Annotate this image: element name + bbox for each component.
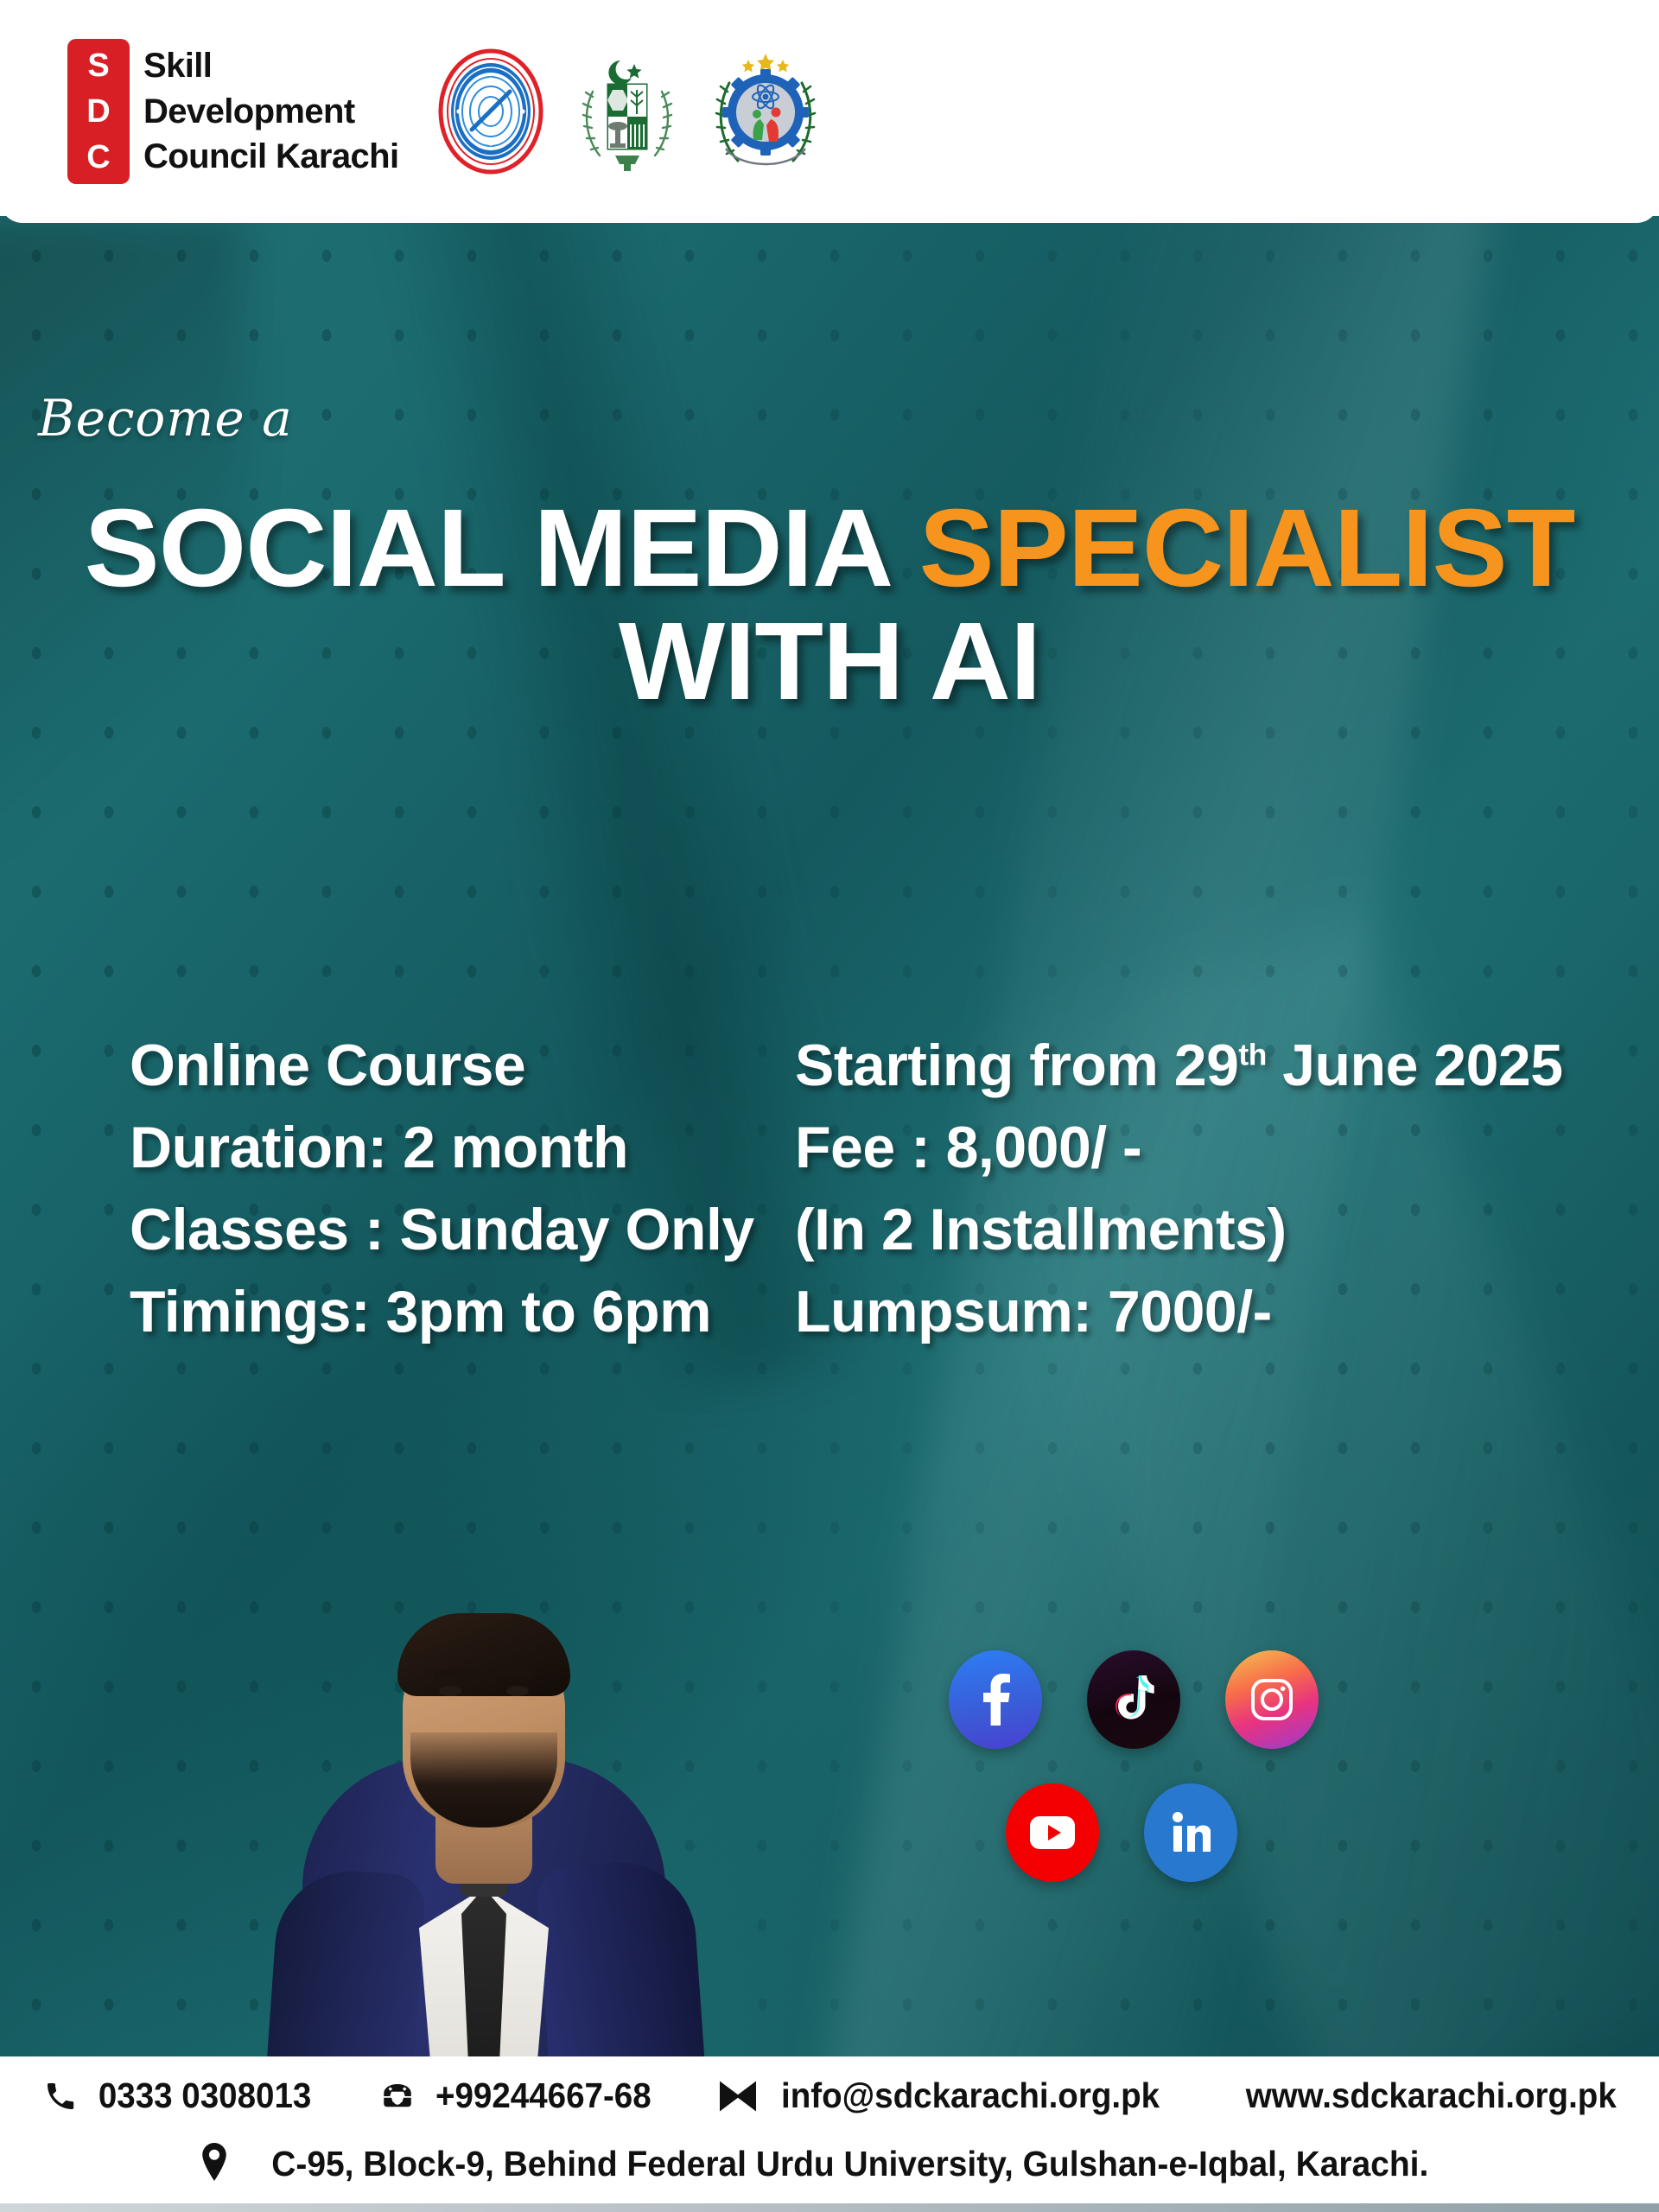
- social-links: [949, 1650, 1363, 1882]
- instagram-icon[interactable]: [1225, 1650, 1319, 1749]
- detail-fee: Fee : 8,000/ -: [795, 1110, 1564, 1185]
- contact-website[interactable]: www.sdckarachi.org.pk: [1234, 2075, 1628, 2116]
- envelope-icon: [719, 2077, 757, 2115]
- detail-online-course: Online Course: [130, 1028, 795, 1103]
- headline-line-1: SOCIAL MEDIA SPECIALIST: [0, 493, 1659, 606]
- facebook-icon[interactable]: [949, 1650, 1042, 1749]
- skills-developing-centre-crest-icon: [703, 47, 829, 176]
- detail-duration: Duration: 2 month: [130, 1110, 795, 1185]
- location-pin-icon: [200, 2143, 229, 2185]
- headline-orange-part: SPECIALIST: [919, 486, 1575, 610]
- eyebrow-text: Become a: [38, 389, 293, 448]
- detail-start-date: Starting from 29th June 2025: [795, 1028, 1564, 1103]
- sdc-letter-c: C: [86, 141, 110, 174]
- brand-header: S D C Skill Development Council Karachi: [0, 0, 1659, 223]
- course-details: Online Course Starting from 29th June 20…: [130, 1028, 1564, 1350]
- government-of-pakistan-crest-icon: [567, 47, 688, 176]
- start-date-prefix: Starting from 29: [795, 1033, 1238, 1098]
- linkedin-icon[interactable]: [1144, 1783, 1237, 1882]
- instagram-glyph: [1249, 1677, 1294, 1722]
- poster-body: Become a SOCIAL MEDIA SPECIALIST WITH AI…: [0, 216, 1659, 2056]
- tiktok-icon[interactable]: [1087, 1650, 1180, 1749]
- sdc-word-council-karachi: Council Karachi: [143, 134, 399, 180]
- instructor-photo: [259, 1473, 709, 2056]
- contact-email[interactable]: info@sdckarachi.org.pk: [719, 2075, 1172, 2116]
- linkedin-glyph: [1171, 1812, 1211, 1853]
- telephone-icon: [378, 2077, 416, 2115]
- sdc-initials-bar: S D C: [67, 39, 130, 184]
- start-date-ordinal: th: [1238, 1038, 1266, 1071]
- email-address: info@sdckarachi.org.pk: [781, 2075, 1160, 2116]
- sdc-letter-d: D: [86, 95, 110, 128]
- sdc-word-skill: Skill: [143, 43, 399, 89]
- landline-number: +99244667-68: [435, 2075, 652, 2116]
- youtube-icon[interactable]: [1006, 1783, 1099, 1882]
- website-url: www.sdckarachi.org.pk: [1246, 2075, 1617, 2116]
- contact-landline[interactable]: +99244667-68: [378, 2075, 658, 2116]
- address-text: C-95, Block-9, Behind Federal Urdu Unive…: [271, 2144, 1428, 2184]
- detail-lumpsum: Lumpsum: 7000/-: [795, 1274, 1564, 1350]
- headline-line-2: WITH AI: [0, 606, 1659, 719]
- start-date-suffix: June 2025: [1267, 1033, 1563, 1098]
- crest-row: [430, 47, 829, 176]
- youtube-glyph: [1029, 1815, 1076, 1850]
- footer-divider: [0, 2203, 1659, 2212]
- sdc-word-development: Development: [143, 89, 399, 135]
- sdc-logo: S D C Skill Development Council Karachi: [67, 39, 399, 184]
- sdc-seal-crest-icon: [430, 47, 551, 176]
- contact-row-address: C-95, Block-9, Behind Federal Urdu Unive…: [0, 2143, 1659, 2185]
- tiktok-glyph: [1113, 1675, 1154, 1724]
- sdc-wordmark: Skill Development Council Karachi: [143, 39, 399, 184]
- page-title: SOCIAL MEDIA SPECIALIST WITH AI: [0, 493, 1659, 718]
- sdc-letter-s: S: [87, 49, 109, 82]
- contact-row-primary: 0333 0308013 +99244667-68 info@sdckarach…: [0, 2075, 1659, 2116]
- mobile-number: 0333 0308013: [99, 2075, 311, 2116]
- detail-timings: Timings: 3pm to 6pm: [130, 1274, 795, 1350]
- detail-installments: (In 2 Installments): [795, 1192, 1564, 1268]
- headline-white-part: SOCIAL MEDIA: [85, 486, 919, 610]
- phone-icon: [41, 2077, 79, 2115]
- facebook-glyph: [976, 1674, 1014, 1726]
- detail-classes: Classes : Sunday Only: [130, 1192, 795, 1268]
- contact-footer: 0333 0308013 +99244667-68 info@sdckarach…: [0, 2056, 1659, 2212]
- contact-mobile[interactable]: 0333 0308013: [41, 2075, 318, 2116]
